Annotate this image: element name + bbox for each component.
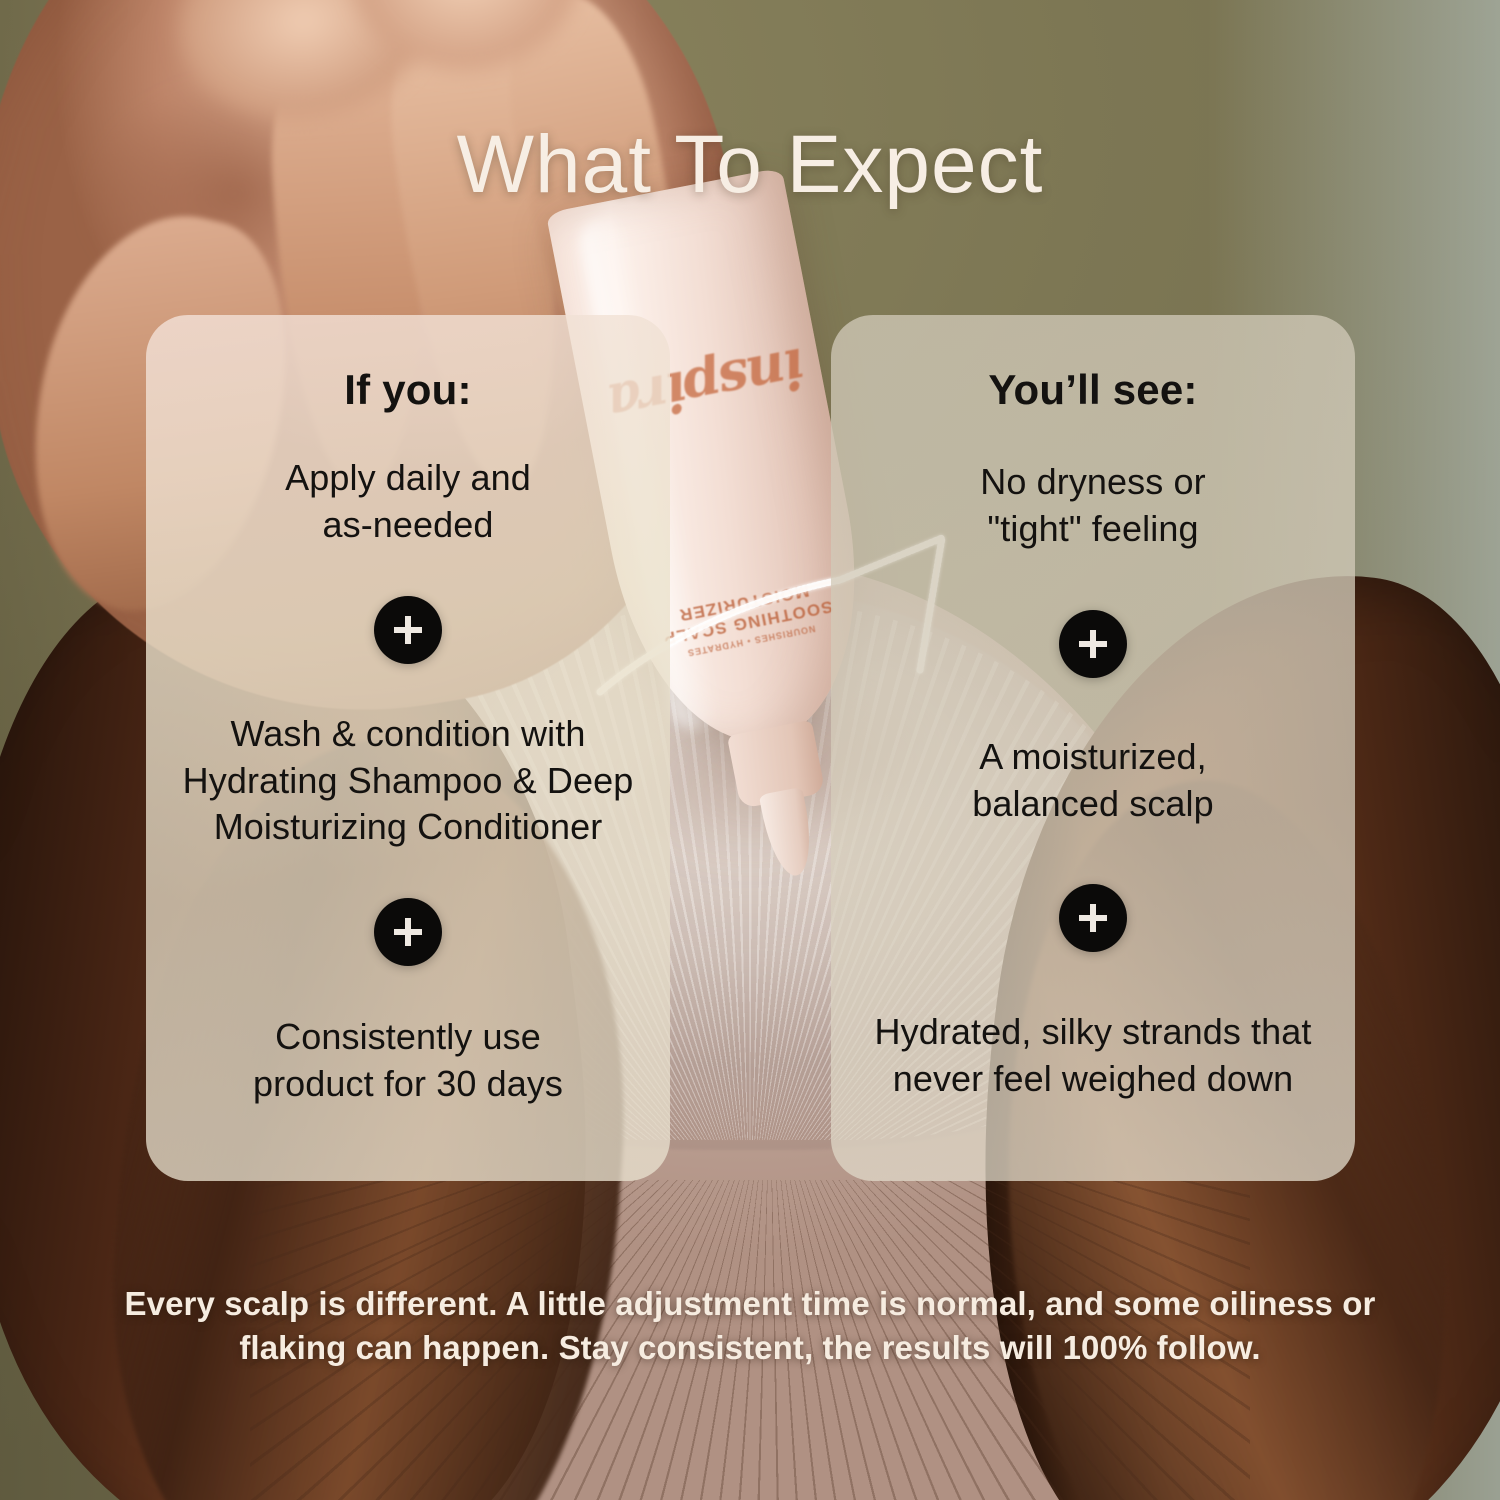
list-item: Apply daily and as-needed — [180, 455, 636, 549]
card-left-steps: Apply daily and as-needed Wash & conditi… — [180, 413, 636, 1141]
card-right-title: You’ll see: — [988, 367, 1197, 413]
card-right-step-2: A moisturized, balanced scalp — [972, 734, 1214, 828]
card-right-step-3: Hydrated, silky strands that never feel … — [875, 1009, 1312, 1103]
list-item: No dryness or "tight" feeling — [865, 459, 1321, 553]
card-right-step-1: No dryness or "tight" feeling — [980, 459, 1205, 553]
list-item: Wash & condition with Hydrating Shampoo … — [180, 711, 636, 851]
page-title: What To Expect — [0, 118, 1500, 212]
card-left-step-1: Apply daily and as-needed — [285, 455, 531, 549]
list-item: Hydrated, silky strands that never feel … — [865, 1009, 1321, 1103]
plus-icon — [374, 596, 442, 664]
card-if-you: If you: Apply daily and as-needed Wash &… — [146, 315, 670, 1181]
card-youll-see: You’ll see: No dryness or "tight" feelin… — [831, 315, 1355, 1181]
card-left-step-2: Wash & condition with Hydrating Shampoo … — [183, 711, 634, 851]
plus-icon — [374, 898, 442, 966]
card-right-steps: No dryness or "tight" feeling A moisturi… — [865, 413, 1321, 1141]
footer-disclaimer: Every scalp is different. A little adjus… — [0, 1282, 1500, 1370]
card-left-step-3: Consistently use product for 30 days — [253, 1014, 563, 1108]
card-left-title: If you: — [344, 367, 471, 413]
list-item: A moisturized, balanced scalp — [865, 734, 1321, 828]
plus-icon — [1059, 610, 1127, 678]
infographic-canvas: inspira NOURISHES • HYDRATES SOOTHING SC… — [0, 0, 1500, 1500]
list-item: Consistently use product for 30 days — [180, 1014, 636, 1108]
plus-icon — [1059, 884, 1127, 952]
comparison-cards: If you: Apply daily and as-needed Wash &… — [146, 315, 1355, 1181]
